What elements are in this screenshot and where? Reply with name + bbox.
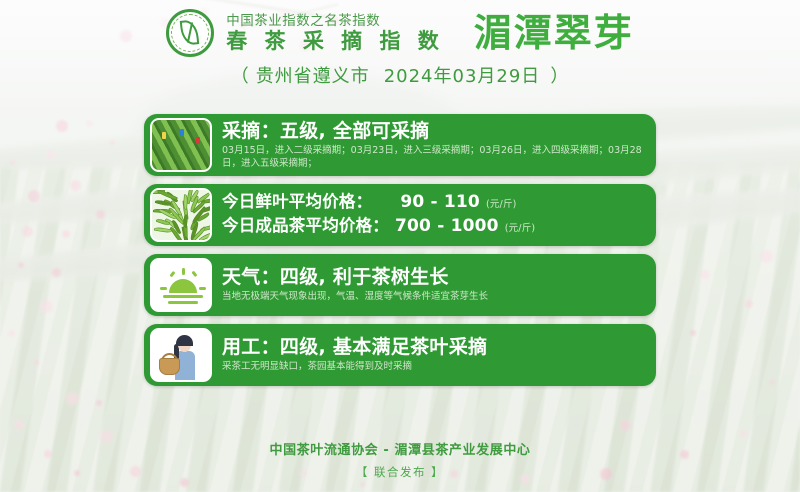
sun-ray — [169, 271, 175, 277]
sun-dome — [169, 279, 197, 293]
picker-figure — [180, 129, 184, 136]
terrace-rows-art — [152, 120, 210, 170]
paren-close: ） — [550, 66, 569, 87]
tea-leaf-shape — [183, 214, 189, 227]
picker-figure — [162, 132, 166, 139]
picker-basket — [159, 358, 180, 375]
card-weather-title: 天气：四级, 利于茶树生长 — [222, 266, 646, 289]
card-price[interactable]: 今日鲜叶平均价格： 90 - 110 (元/斤) 今日成品茶平均价格： 700 … — [144, 184, 656, 246]
card-labor-desc: 采茶工无明显缺口，茶园基本能得到及时采摘 — [222, 361, 646, 374]
price-fresh-unit: (元/斤) — [486, 194, 517, 215]
card-labor-title: 用工：四级, 基本满足茶叶采摘 — [222, 336, 646, 359]
sun-ray — [160, 287, 167, 290]
picker-hair — [176, 335, 193, 346]
tea-leaf-emblem-icon — [166, 9, 214, 57]
card-picking-desc: 03月15日，进入二级采摘期；03月23日，进入三级采摘期；03月26日，进入四… — [222, 145, 646, 170]
card-picking[interactable]: 采摘：五级, 全部可采摘 03月15日，进入二级采摘期；03月23日，进入三级采… — [144, 114, 656, 176]
price-fresh-label: 今日鲜叶平均价格： — [222, 191, 372, 212]
page-title: 湄潭翠芽 — [474, 11, 634, 55]
sunrise-icon — [150, 258, 212, 312]
location-label: 贵州省遵义市 — [256, 66, 370, 87]
price-finished-value: 700 - 1000 — [395, 216, 499, 237]
page-header: 中国茶业指数之名茶指数 春 茶 采 摘 指 数 湄潭翠芽 （贵州省遵义市2024… — [0, 0, 800, 100]
price-row-finished: 今日成品茶平均价格： 700 - 1000 (元/斤) — [222, 215, 646, 239]
sun-ray — [199, 287, 206, 290]
tea-picker-woman-icon — [150, 328, 212, 382]
sunrise-art — [152, 260, 210, 310]
page-footer: 中国茶叶流通协会 - 湄潭县茶产业发展中心 【 联合发布 】 — [0, 439, 800, 480]
tea-picker-art — [152, 330, 210, 380]
card-picking-title: 采摘：五级, 全部可采摘 — [222, 120, 646, 143]
horizon-bar-top — [163, 295, 203, 298]
footer-organizations: 中国茶叶流通协会 - 湄潭县茶产业发展中心 — [0, 439, 800, 458]
header-subtitle-small: 中国茶业指数之名茶指数 — [226, 13, 380, 29]
index-card-list: 采摘：五级, 全部可采摘 03月15日，进入二级采摘期；03月23日，进入三级采… — [144, 114, 656, 386]
price-row-fresh: 今日鲜叶平均价格： 90 - 110 (元/斤) — [222, 191, 646, 215]
footer-release-note: 【 联合发布 】 — [0, 464, 800, 480]
date-label: 2024年03月29日 — [384, 66, 541, 87]
header-subtitle-large: 春 茶 采 摘 指 数 — [226, 29, 444, 54]
price-finished-label: 今日成品茶平均价格： — [222, 215, 389, 236]
card-weather-desc: 当地无极端天气现象出现，气温、湿度等气候条件适宜茶芽生长 — [222, 291, 646, 304]
card-labor[interactable]: 用工：四级, 基本满足茶叶采摘 采茶工无明显缺口，茶园基本能得到及时采摘 — [144, 324, 656, 386]
sun-ray — [191, 271, 197, 277]
tea-terrace-photo — [150, 118, 212, 172]
header-location-date: （贵州省遵义市2024年03月29日） — [0, 62, 800, 88]
paren-open: （ — [231, 66, 250, 87]
picker-figure — [196, 137, 200, 144]
price-fresh-value: 90 - 110 — [400, 192, 480, 213]
tea-leaves-art — [152, 190, 210, 240]
horizon-bar-bottom — [168, 301, 198, 304]
card-weather[interactable]: 天气：四级, 利于茶树生长 当地无极端天气现象出现，气温、湿度等气候条件适宜茶芽… — [144, 254, 656, 316]
sun-ray — [182, 268, 185, 275]
fresh-tea-leaves-photo — [150, 188, 212, 242]
price-finished-unit: (元/斤) — [505, 218, 536, 239]
